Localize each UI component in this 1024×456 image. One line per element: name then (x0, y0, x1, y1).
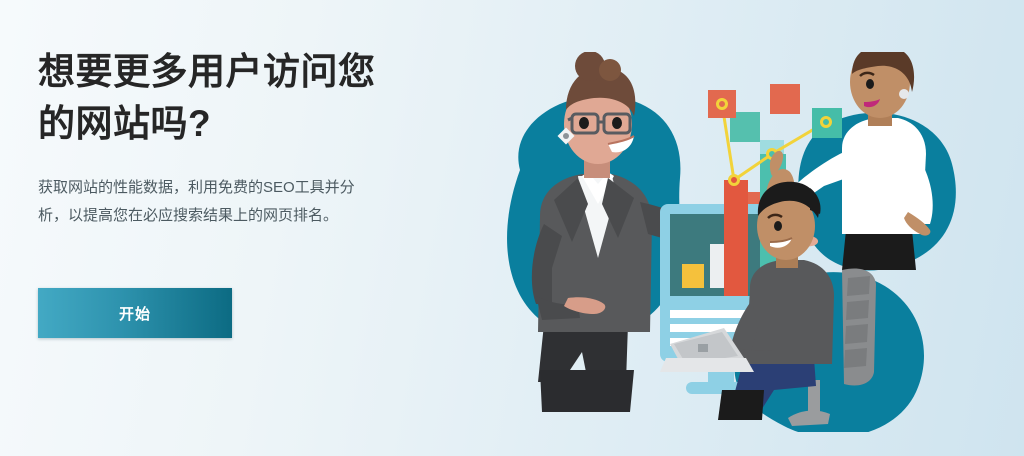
square-orange-top (770, 84, 800, 114)
page-title: 想要更多用户访问您 的网站吗? (38, 46, 438, 150)
hero-copy-block: 想要更多用户访问您 的网站吗? 获取网站的性能数据，利用免费的SEO工具并分 析… (38, 46, 438, 230)
seo-team-illustration (412, 52, 1024, 432)
trend-node-orange-bar (730, 176, 739, 185)
get-started-button[interactable]: 开始 (38, 288, 232, 338)
hero-description: 获取网站的性能数据，利用免费的SEO工具并分 析，以提高您在必应搜索结果上的网页… (38, 174, 396, 230)
trend-node-end (822, 118, 831, 127)
seo-promo-hero: 想要更多用户访问您 的网站吗? 获取网站的性能数据，利用免费的SEO工具并分 析… (0, 0, 1024, 456)
trend-node-top (718, 100, 727, 109)
mini-bar-yellow (682, 264, 704, 288)
bar-orange (724, 180, 748, 296)
